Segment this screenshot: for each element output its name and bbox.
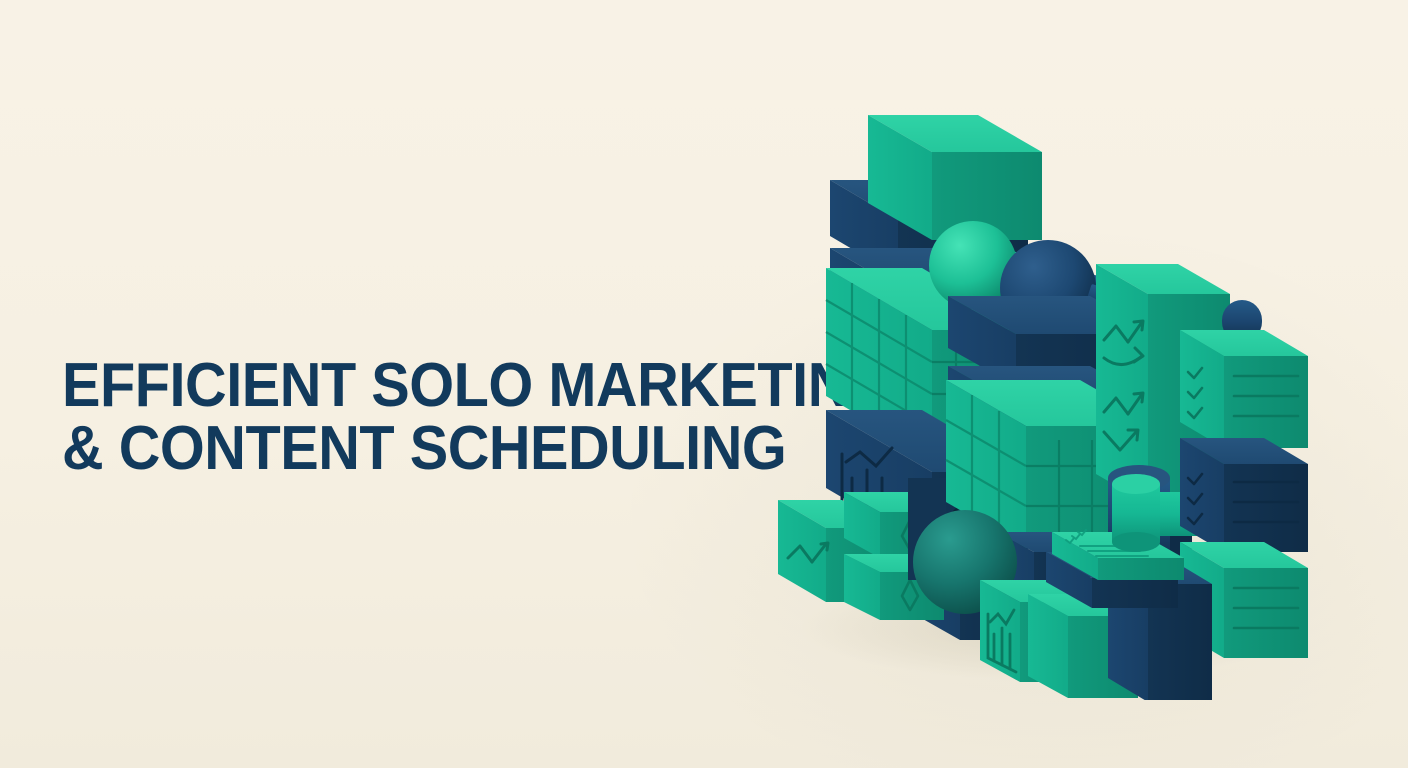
isometric-marketing-blocks-illustration [760, 80, 1320, 700]
connector-cylinder-platform [1112, 474, 1160, 552]
page-title-line-2: & CONTENT SCHEDULING [62, 417, 750, 480]
page-title: EFFICIENT SOLO MARKETING & CONTENT SCHED… [62, 354, 750, 480]
banner: EFFICIENT SOLO MARKETING & CONTENT SCHED… [0, 0, 1408, 768]
checklist-cube-1 [1180, 330, 1308, 448]
page-title-line-1: EFFICIENT SOLO MARKETING [62, 354, 750, 417]
checklist-cube-2 [1180, 438, 1308, 552]
